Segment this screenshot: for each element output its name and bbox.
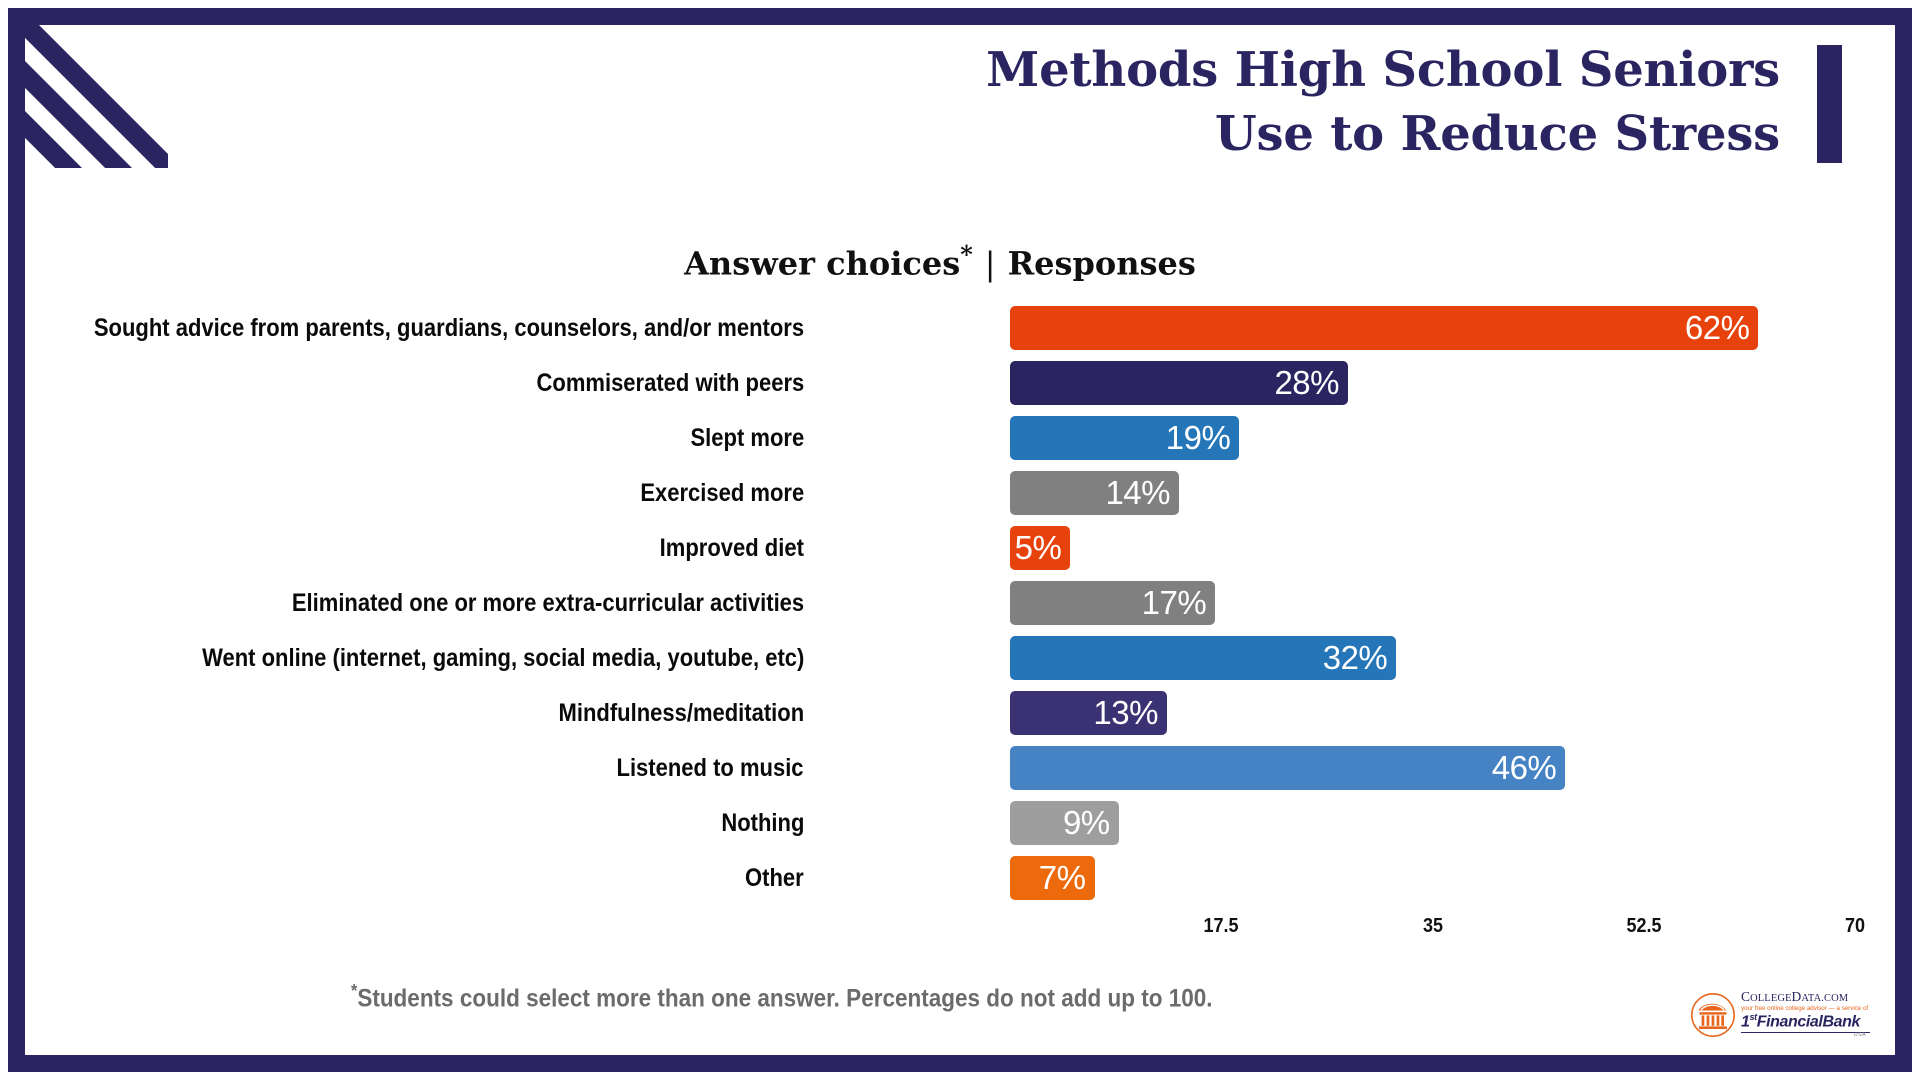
bar-track: 28% <box>1010 361 1855 405</box>
column-header-separator: | <box>973 245 1008 283</box>
logo-country: USA <box>1854 1033 1866 1039</box>
bar-row: Eliminated one or more extra-curricular … <box>0 581 1920 636</box>
bar[interactable]: 13% <box>1010 691 1167 735</box>
bar-value-label: 32% <box>1323 639 1397 677</box>
bar-track: 7% <box>1010 856 1855 900</box>
bar-value-label: 28% <box>1274 364 1348 402</box>
collegedata-logo[interactable]: COLLEGEDATA.COM your free online college… <box>1690 988 1870 1042</box>
bar-category-label: Other <box>745 856 804 900</box>
frame-border-bottom <box>8 1055 1912 1072</box>
bar-track: 13% <box>1010 691 1855 735</box>
bar-track: 9% <box>1010 801 1855 845</box>
bar-category-label: Nothing <box>721 801 804 845</box>
logo-divider: USA <box>1741 1032 1870 1040</box>
column-header-answer-choices: Answer choices <box>684 245 960 283</box>
bar-category-label: Went online (internet, gaming, social me… <box>202 636 804 680</box>
bar[interactable]: 17% <box>1010 581 1215 625</box>
bar-row: Slept more19% <box>0 416 1920 471</box>
bar-chart: Sought advice from parents, guardians, c… <box>0 306 1920 906</box>
column-header: Answer choices*|Responses <box>620 240 1260 283</box>
bar-track: 62% <box>1010 306 1855 350</box>
bar-category-label: Eliminated one or more extra-curricular … <box>292 581 804 625</box>
bar-value-label: 62% <box>1685 309 1759 347</box>
bar-track: 32% <box>1010 636 1855 680</box>
bar-category-label: Listened to music <box>617 746 804 790</box>
bar[interactable]: 9% <box>1010 801 1119 845</box>
x-axis-tick: 70 <box>1845 915 1865 938</box>
logo-brand-name: COLLEGEDATA.COM <box>1741 990 1870 1005</box>
bar-row: Went online (internet, gaming, social me… <box>0 636 1920 691</box>
column-header-responses: Responses <box>1008 245 1196 283</box>
corner-stripe-3 <box>8 94 168 168</box>
x-axis-tick: 52.5 <box>1626 915 1661 938</box>
frame-border-top <box>8 8 1912 25</box>
bar-row: Sought advice from parents, guardians, c… <box>0 306 1920 361</box>
slide-canvas: Methods High School Seniors Use to Reduc… <box>0 0 1920 1080</box>
bar-track: 14% <box>1010 471 1855 515</box>
title-accent-bar <box>1817 45 1842 163</box>
bar-value-label: 7% <box>1039 859 1095 897</box>
bar[interactable]: 19% <box>1010 416 1239 460</box>
bar[interactable]: 62% <box>1010 306 1758 350</box>
bar[interactable]: 7% <box>1010 856 1095 900</box>
bar-row: Listened to music46% <box>0 746 1920 801</box>
bar-row: Nothing9% <box>0 801 1920 856</box>
bar-value-label: 14% <box>1105 474 1179 512</box>
bar[interactable]: 28% <box>1010 361 1348 405</box>
bar-category-label: Sought advice from parents, guardians, c… <box>94 306 804 350</box>
bar-row: Mindfulness/meditation13% <box>0 691 1920 746</box>
bar[interactable]: 5% <box>1010 526 1070 570</box>
logo-bank-name: 1stFinancialBank <box>1741 1013 1870 1030</box>
bar-row: Improved diet5% <box>0 526 1920 581</box>
bar-row: Exercised more14% <box>0 471 1920 526</box>
title-line-1: Methods High School Seniors <box>900 38 1780 102</box>
x-axis-tick: 35 <box>1422 915 1442 938</box>
logo-text-block: COLLEGEDATA.COM your free online college… <box>1741 990 1870 1039</box>
bar[interactable]: 32% <box>1010 636 1396 680</box>
x-axis-tick-labels: 17.53552.570 <box>1010 915 1855 945</box>
bar-value-label: 5% <box>1015 529 1071 567</box>
footnote-text: Students could select more than one answ… <box>358 984 1213 1012</box>
x-axis-tick: 17.5 <box>1204 915 1239 938</box>
corner-stripe-2 <box>8 44 168 168</box>
bar-track: 5% <box>1010 526 1855 570</box>
bar-value-label: 46% <box>1492 749 1566 787</box>
corner-stripe-1 <box>8 8 168 168</box>
bar-track: 19% <box>1010 416 1855 460</box>
footnote: *Students could select more than one ans… <box>140 981 1520 1013</box>
bar-value-label: 17% <box>1142 584 1216 622</box>
bar-category-label: Mindfulness/meditation <box>558 691 804 735</box>
bar-category-label: Improved diet <box>660 526 804 570</box>
bar-category-label: Exercised more <box>640 471 804 515</box>
column-header-asterisk: * <box>960 240 973 269</box>
university-building-icon <box>1690 992 1736 1038</box>
bar[interactable]: 14% <box>1010 471 1179 515</box>
bar[interactable]: 46% <box>1010 746 1565 790</box>
page-title: Methods High School Seniors Use to Reduc… <box>900 38 1780 166</box>
bar-row: Other7% <box>0 856 1920 911</box>
logo-tagline: your free online college advisor — a ser… <box>1741 1006 1866 1012</box>
bar-category-label: Slept more <box>690 416 804 460</box>
bar-track: 46% <box>1010 746 1855 790</box>
title-line-2: Use to Reduce Stress <box>900 102 1780 166</box>
bar-track: 17% <box>1010 581 1855 625</box>
corner-stripes-decoration <box>8 8 168 168</box>
bar-value-label: 9% <box>1063 804 1119 842</box>
bar-row: Commiserated with peers28% <box>0 361 1920 416</box>
bar-category-label: Commiserated with peers <box>536 361 804 405</box>
bar-value-label: 19% <box>1166 419 1240 457</box>
bar-value-label: 13% <box>1093 694 1167 732</box>
